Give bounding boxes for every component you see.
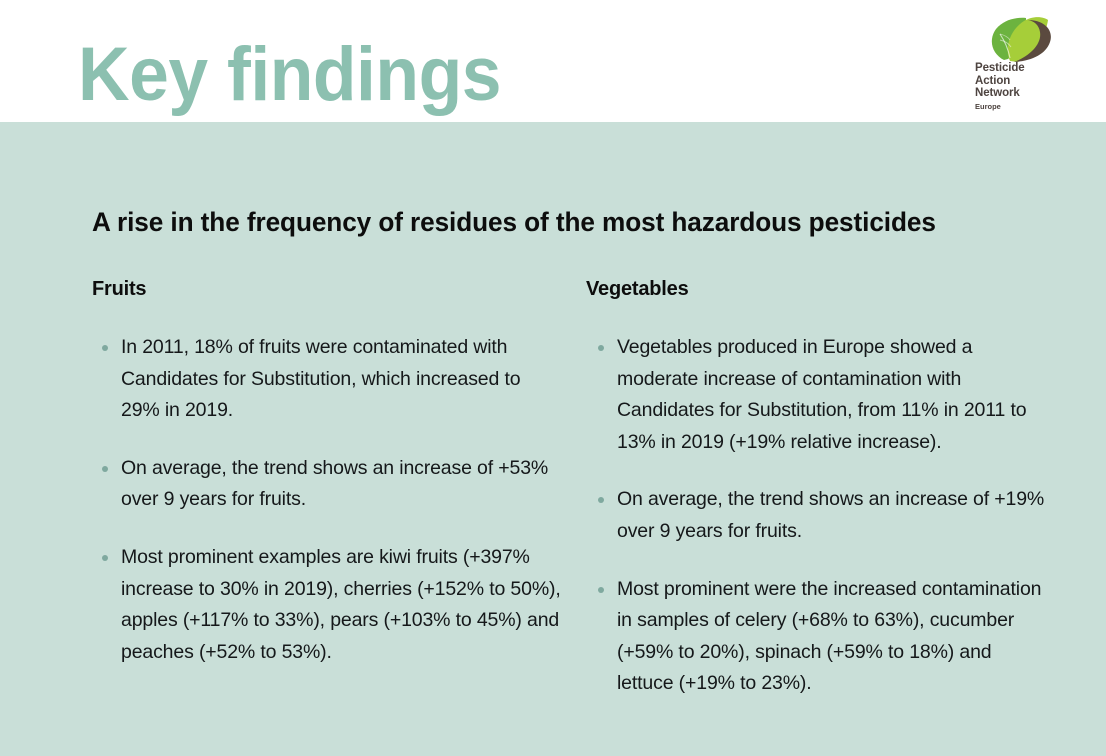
columns-container: Fruits In 2011, 18% of fruits were conta… xyxy=(0,276,1106,756)
list-item: On average, the trend shows an increase … xyxy=(586,484,1046,547)
column-vegetables: Vegetables Vegetables produced in Europe… xyxy=(586,276,1046,700)
column-fruits: Fruits In 2011, 18% of fruits were conta… xyxy=(92,276,562,668)
list-item: Vegetables produced in Europe showed a m… xyxy=(586,332,1046,458)
logo-line-3: Network xyxy=(975,87,1063,100)
column-heading-vegetables: Vegetables xyxy=(586,276,1046,302)
logo-leaf-icon xyxy=(970,16,1062,64)
logo-line-2: Action xyxy=(975,75,1063,88)
list-item: On average, the trend shows an increase … xyxy=(92,453,562,516)
section-headline: A rise in the frequency of residues of t… xyxy=(92,206,1014,238)
list-item: Most prominent examples are kiwi fruits … xyxy=(92,542,562,668)
logo-region-label: Europe xyxy=(975,101,1063,112)
list-item: In 2011, 18% of fruits were contaminated… xyxy=(92,332,562,427)
logo-wordmark: Pesticide Action Network Europe xyxy=(975,62,1063,112)
slide: Key findings Pesticide Action Network Eu… xyxy=(0,0,1106,756)
bullet-list-vegetables: Vegetables produced in Europe showed a m… xyxy=(586,332,1046,700)
page-title: Key findings xyxy=(78,34,501,116)
list-item: Most prominent were the increased contam… xyxy=(586,574,1046,700)
logo: Pesticide Action Network Europe xyxy=(970,16,1062,112)
bullet-list-fruits: In 2011, 18% of fruits were contaminated… xyxy=(92,332,562,668)
column-heading-fruits: Fruits xyxy=(92,276,562,302)
logo-line-1: Pesticide xyxy=(975,62,1063,75)
